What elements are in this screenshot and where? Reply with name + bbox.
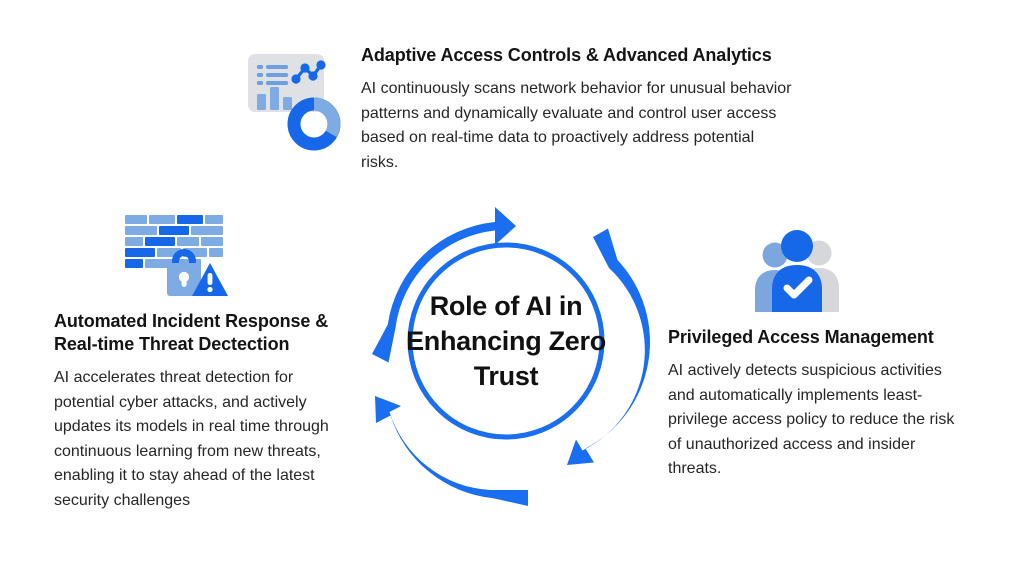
node-privileged-access-management: Privileged Access Management AI actively…: [668, 326, 958, 482]
cycle-arrow-right: [567, 229, 650, 466]
cycle-arrow-top: [372, 207, 516, 363]
cycle-inner-ring: [410, 245, 602, 437]
node-automated-incident-response: Automated Incident Response & Real-time …: [54, 310, 346, 513]
node-heading: Privileged Access Management: [668, 326, 958, 349]
node-body: AI accelerates threat detection for pote…: [54, 366, 346, 513]
analytics-dashboard-icon: [243, 46, 347, 156]
cycle-arrow-left: [375, 396, 528, 506]
node-body: AI continuously scans network behavior f…: [361, 77, 793, 175]
node-heading: Automated Incident Response & Real-time …: [54, 310, 346, 356]
people-verified-icon: [748, 226, 848, 312]
infographic-canvas: Adaptive Access Controls & Advanced Anal…: [0, 0, 1024, 576]
node-adaptive-access: Adaptive Access Controls & Advanced Anal…: [361, 44, 793, 175]
node-heading: Adaptive Access Controls & Advanced Anal…: [361, 44, 793, 67]
firewall-lock-warning-icon: [120, 211, 230, 301]
cycle-diagram: [341, 176, 671, 506]
node-body: AI actively detects suspicious activitie…: [668, 359, 958, 482]
